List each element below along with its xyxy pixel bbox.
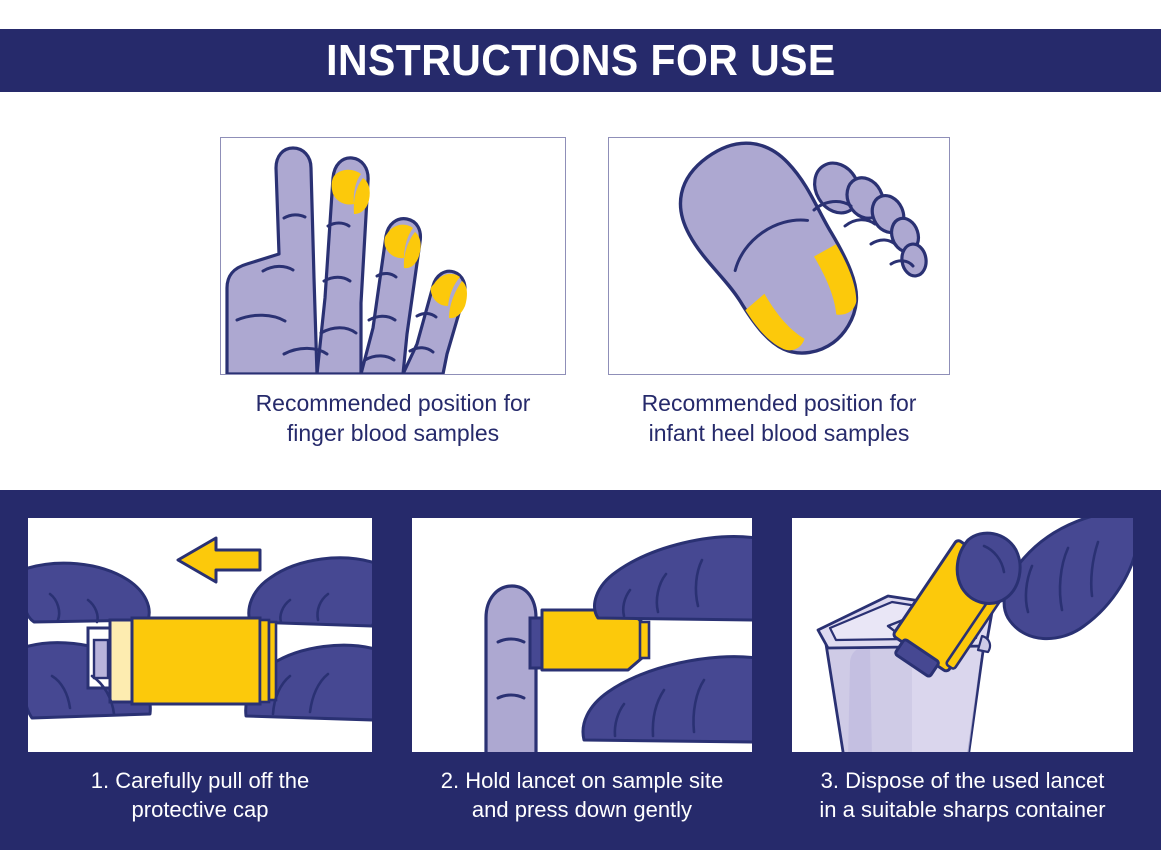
dispose-in-sharps-container-icon	[792, 518, 1133, 752]
header-banner: INSTRUCTIONS FOR USE	[0, 29, 1161, 92]
figure-finger-position: Recommended position for finger blood sa…	[220, 137, 566, 449]
figure-heel-caption: Recommended position for infant heel blo…	[608, 388, 950, 449]
figure-finger-frame	[220, 137, 566, 375]
step-3: 3. Dispose of the used lancet in a suita…	[792, 518, 1133, 825]
step-2-frame	[412, 518, 752, 752]
step-3-caption-line2: in a suitable sharps container	[792, 795, 1133, 824]
step-1-caption: 1. Carefully pull off the protective cap	[28, 766, 372, 825]
figure-finger-caption-line1: Recommended position for	[220, 388, 566, 418]
step-2-caption: 2. Hold lancet on sample site and press …	[412, 766, 752, 825]
press-lancet-on-finger-icon	[412, 518, 752, 752]
hand-fingertip-sample-icon	[221, 138, 565, 374]
step-3-caption-line1: 3. Dispose of the used lancet	[792, 766, 1133, 795]
figure-finger-caption: Recommended position for finger blood sa…	[220, 388, 566, 449]
figure-finger-caption-line2: finger blood samples	[220, 418, 566, 448]
recommended-positions-section: Recommended position for finger blood sa…	[0, 92, 1161, 490]
figure-heel-caption-line1: Recommended position for	[608, 388, 950, 418]
figure-heel-caption-line2: infant heel blood samples	[608, 418, 950, 448]
figure-heel-frame	[608, 137, 950, 375]
page-title: INSTRUCTIONS FOR USE	[326, 39, 835, 83]
step-1: 1. Carefully pull off the protective cap	[28, 518, 372, 825]
figure-heel-position: Recommended position for infant heel blo…	[608, 137, 950, 449]
pull-off-cap-icon	[28, 518, 372, 752]
step-2: 2. Hold lancet on sample site and press …	[412, 518, 752, 825]
step-3-caption: 3. Dispose of the used lancet in a suita…	[792, 766, 1133, 825]
infant-heel-sample-icon	[609, 138, 949, 374]
step-3-frame	[792, 518, 1133, 752]
step-2-caption-line2: and press down gently	[412, 795, 752, 824]
step-1-frame	[28, 518, 372, 752]
step-1-caption-line1: 1. Carefully pull off the	[28, 766, 372, 795]
step-1-caption-line2: protective cap	[28, 795, 372, 824]
usage-steps-section: 1. Carefully pull off the protective cap	[0, 490, 1161, 850]
step-2-caption-line1: 2. Hold lancet on sample site	[412, 766, 752, 795]
